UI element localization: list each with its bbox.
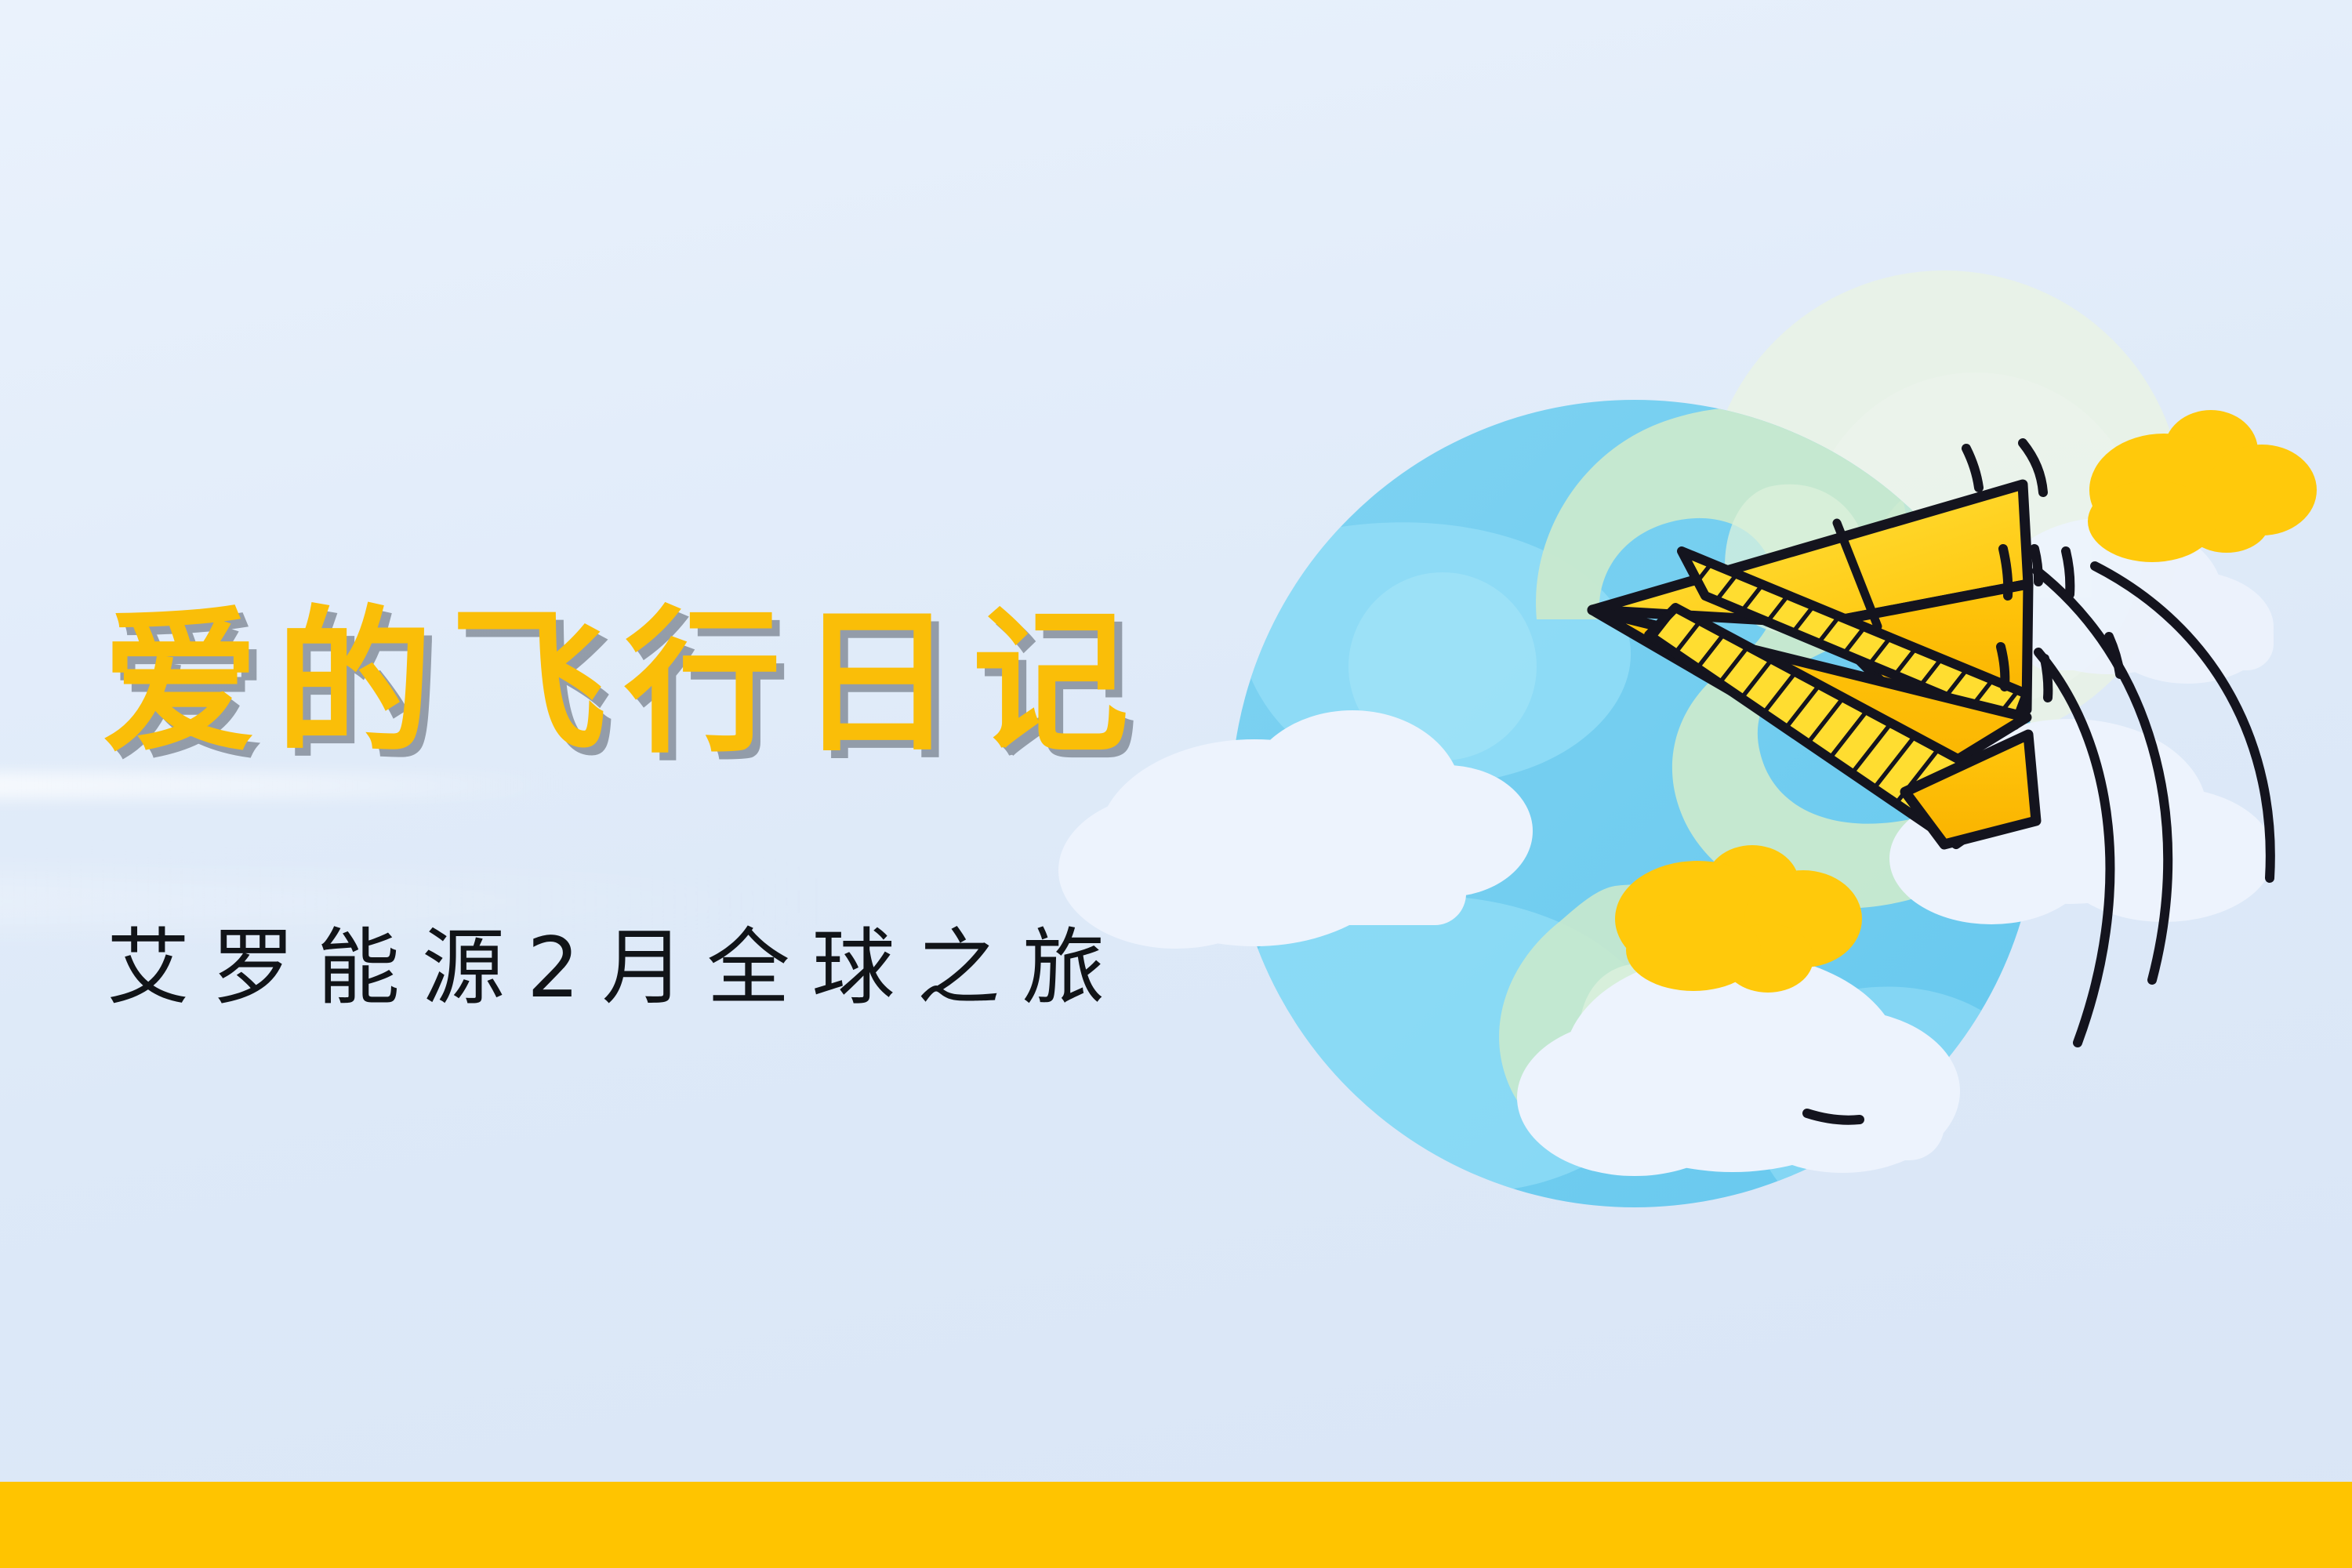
page-title: 爱的飞行日记 xyxy=(102,605,1146,762)
bottom-accent-bar xyxy=(0,1482,2352,1568)
slide-canvas: 爱的飞行日记 艾罗能源2月全球之旅 xyxy=(0,0,2352,1568)
hero-illustration xyxy=(0,0,2352,1568)
page-subtitle: 艾罗能源2月全球之旅 xyxy=(107,927,1127,1010)
